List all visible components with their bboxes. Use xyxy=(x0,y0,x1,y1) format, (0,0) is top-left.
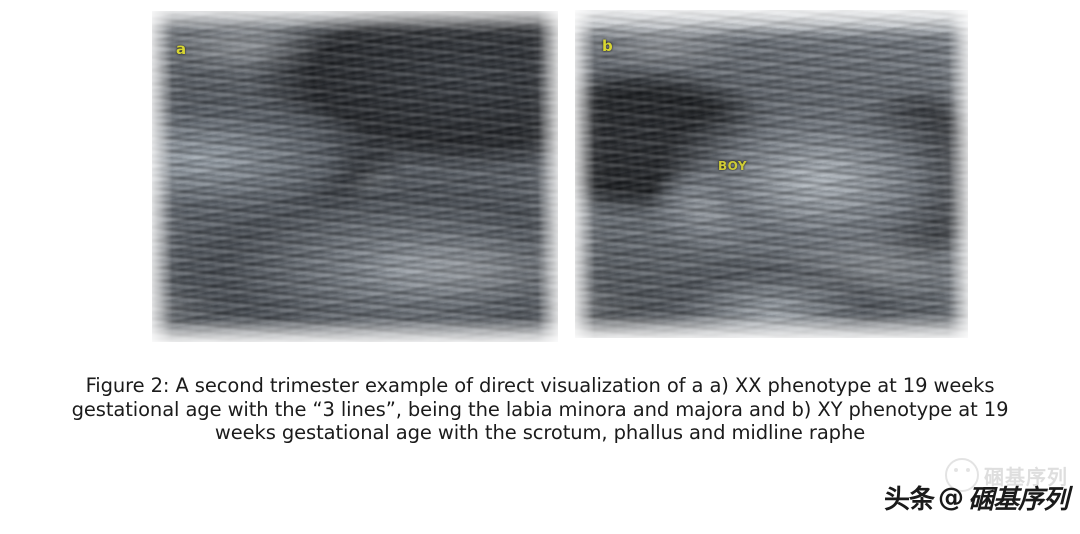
watermark-brand: 头条 xyxy=(884,479,934,516)
ultrasound-image-b xyxy=(575,10,968,338)
watermark-handle: 碅基序列 xyxy=(968,479,1068,516)
ultrasound-panel-a[interactable]: a xyxy=(152,11,558,342)
panel-letter-a: a xyxy=(176,42,186,57)
figure-caption: Figure 2: A second trimester example of … xyxy=(50,374,1030,445)
boy-annotation-label: BOY xyxy=(718,160,747,172)
speckle-layer-3 xyxy=(575,10,968,338)
speckle-layer-3 xyxy=(152,11,558,342)
watermark-main: 头条 @ 碅基序列 xyxy=(884,479,1068,516)
at-icon: @ xyxy=(938,483,964,513)
watermark: 碅基序列 头条 @ 碅基序列 xyxy=(842,458,1074,530)
figure-panels-row: a b BOY xyxy=(0,0,1080,360)
ultrasound-image-a xyxy=(152,11,558,342)
panel-letter-b: b xyxy=(602,39,613,54)
ultrasound-panel-b[interactable]: b BOY xyxy=(575,10,968,338)
